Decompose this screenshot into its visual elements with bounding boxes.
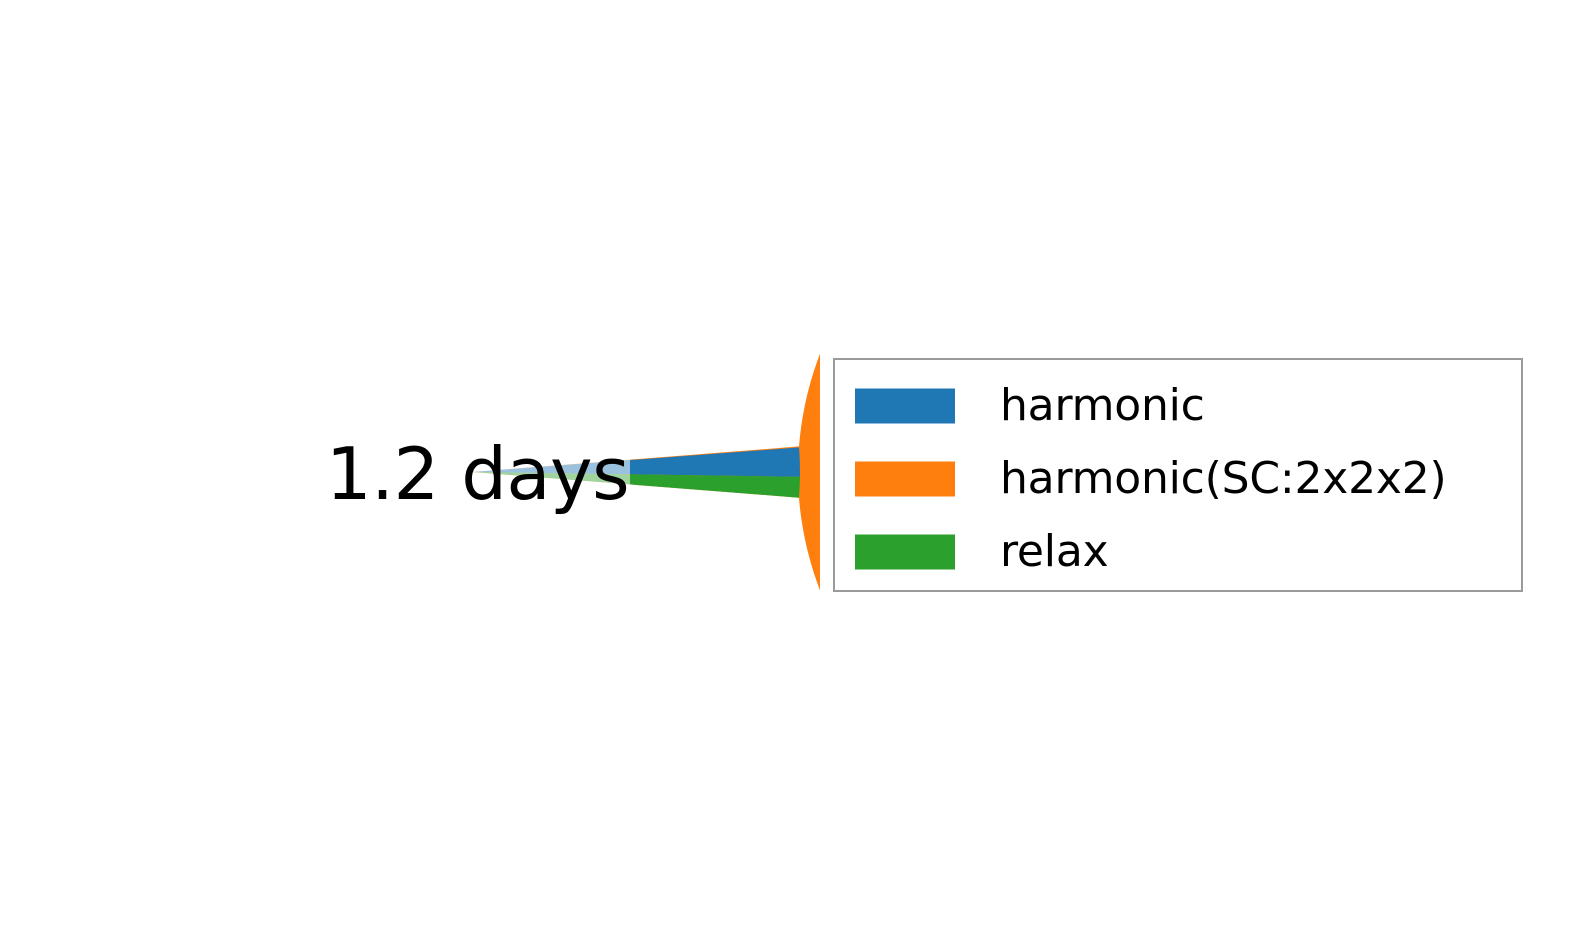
chart-legend: harmonic harmonic(SC:2x2x2) relax [833, 358, 1523, 592]
legend-swatch-icon-harmonic-sc2x2x2 [855, 462, 955, 497]
legend-label-harmonic-sc2x2x2: harmonic(SC:2x2x2) [1000, 457, 1447, 501]
legend-swatch-icon-relax [855, 535, 955, 570]
legend-item-harmonic-sc2x2x2[interactable]: harmonic(SC:2x2x2) [835, 456, 1521, 502]
legend-item-harmonic[interactable]: harmonic [835, 383, 1521, 429]
legend-swatch-icon-harmonic [855, 389, 955, 424]
pie-chart-figure: 1.2 days harmonic harmonic(SC:2x2x2) rel… [0, 0, 1584, 951]
legend-item-relax[interactable]: relax [835, 529, 1521, 575]
pie-plot-area: 1.2 days [0, 0, 820, 951]
pie-slice-harmonic[interactable] [472, 447, 800, 476]
legend-label-relax: relax [1000, 530, 1108, 574]
legend-label-harmonic: harmonic [1000, 384, 1205, 428]
pie-svg [0, 0, 820, 951]
